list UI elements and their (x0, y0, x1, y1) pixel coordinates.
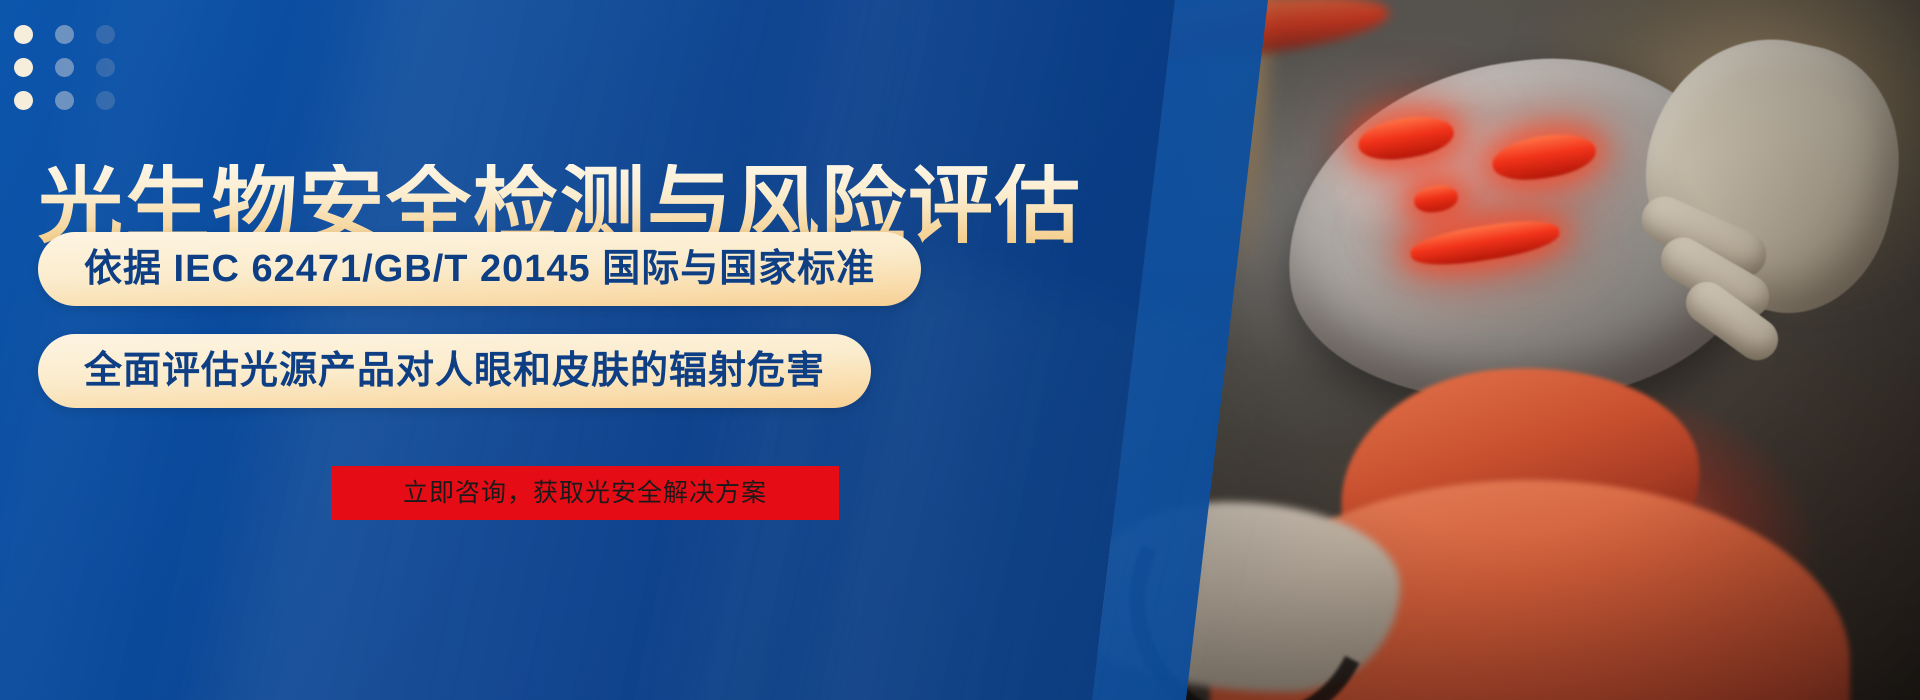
scope-badge: 全面评估光源产品对人眼和皮肤的辐射危害 (38, 334, 871, 408)
consult-cta-button[interactable]: 立即咨询，获取光安全解决方案 (331, 466, 839, 520)
standards-badge: 依据 IEC 62471/GB/T 20145 国际与国家标准 (38, 232, 921, 306)
banner-content: 光生物安全检测与风险评估 依据 IEC 62471/GB/T 20145 国际与… (0, 0, 1180, 700)
scope-badge-label: 全面评估光源产品对人眼和皮肤的辐射危害 (84, 352, 825, 390)
photobiological-safety-banner: 光生物安全检测与风险评估 依据 IEC 62471/GB/T 20145 国际与… (0, 0, 1920, 700)
standards-badge-label: 依据 IEC 62471/GB/T 20145 国际与国家标准 (84, 250, 875, 288)
consult-cta-label: 立即咨询，获取光安全解决方案 (403, 481, 767, 506)
